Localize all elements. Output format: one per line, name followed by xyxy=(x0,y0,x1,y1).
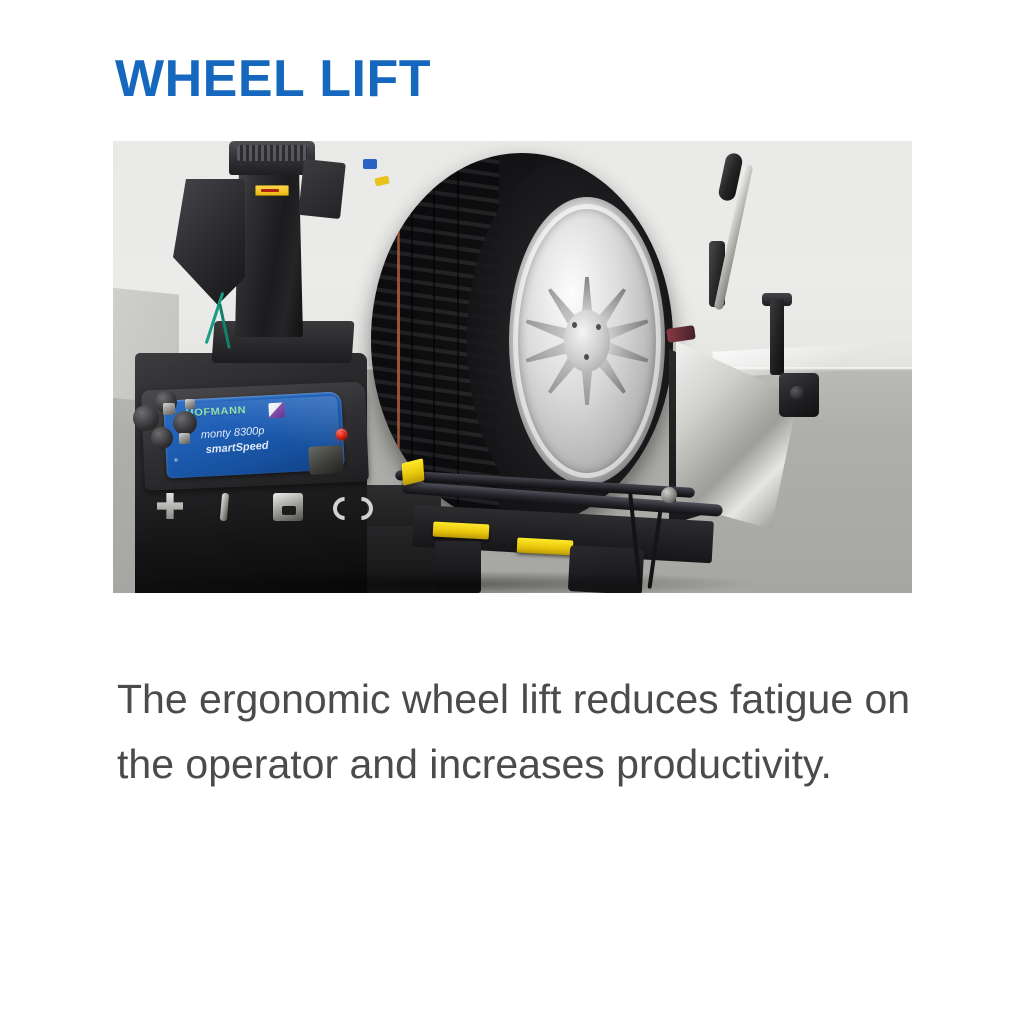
panel-slot xyxy=(308,445,343,475)
blue-marker xyxy=(363,159,377,169)
lug-nut xyxy=(572,322,577,328)
valve-nut xyxy=(185,399,195,409)
control-button-rotate[interactable] xyxy=(333,493,369,519)
tread-rib xyxy=(433,153,435,527)
page-root: WHEEL LIFT xyxy=(0,0,1024,1024)
wheel-hub xyxy=(564,310,610,372)
alloy-wheel-rim xyxy=(509,197,665,485)
power-indicator-light xyxy=(336,429,347,440)
description-paragraph: The ergonomic wheel lift reduces fatigue… xyxy=(117,667,927,797)
valve-nut xyxy=(179,433,190,444)
product-photo: HOFMANN monty 8300p smartSpeed xyxy=(113,141,912,593)
mount-bolt-shaft xyxy=(770,299,784,375)
pivot-block xyxy=(779,373,819,417)
tower-head-ridges xyxy=(237,145,307,161)
machine-model-label: monty 8300p xyxy=(201,425,265,441)
tire-sidewall-stripe xyxy=(397,163,400,515)
control-button-block[interactable] xyxy=(273,493,303,521)
valve-knob[interactable] xyxy=(133,405,159,431)
tread-rib xyxy=(457,153,459,527)
panel-screw xyxy=(174,458,178,462)
tower-bracket xyxy=(298,159,346,219)
warning-label xyxy=(255,185,289,196)
wheel-lift-pad xyxy=(517,538,574,556)
lug-nut xyxy=(596,324,601,330)
valve-knob[interactable] xyxy=(173,411,197,435)
lug-nut xyxy=(584,354,589,360)
wheel-lift-pad xyxy=(433,522,490,540)
valve-cluster[interactable] xyxy=(133,387,209,455)
hofmann-logo-mark xyxy=(268,402,285,418)
valve-knob[interactable] xyxy=(151,427,173,449)
contact-shadow xyxy=(133,571,753,593)
machine-model-sublabel: smartSpeed xyxy=(205,440,269,456)
page-title: WHEEL LIFT xyxy=(115,51,431,107)
valve-nut xyxy=(163,403,175,415)
wheel-lift-bolt xyxy=(661,487,677,503)
